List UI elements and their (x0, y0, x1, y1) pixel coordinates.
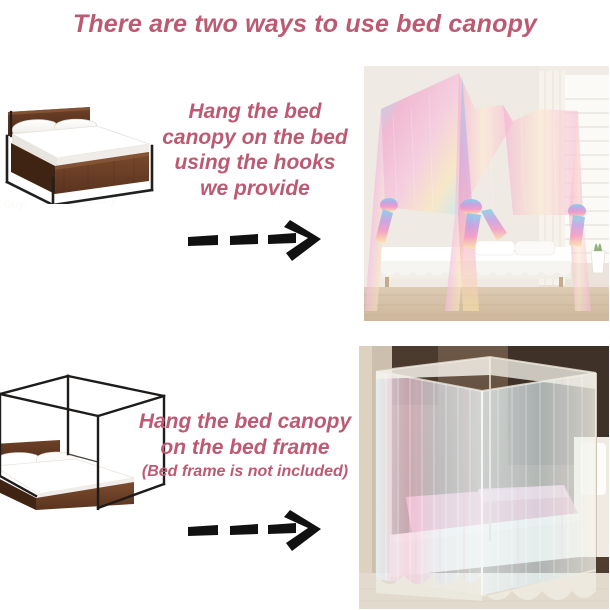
instruction-line: using the hooks (155, 150, 355, 176)
instruction-text-way-1: Hang the bed canopy on the bed using the… (155, 99, 355, 201)
dashed-right-arrow-icon (186, 507, 326, 553)
instruction-line: canopy on the bed (155, 125, 355, 151)
photo-canopy-on-bed-frame (358, 345, 610, 610)
instruction-text-way-2: Hang the bed canopy on the bed frame (Be… (128, 409, 362, 482)
instruction-line: Hang the bed (155, 99, 355, 125)
instruction-line: Hang the bed canopy (128, 409, 362, 435)
instruction-line: we provide (155, 176, 355, 202)
infographic-canvas: ouy uoy There are two ways to use bed ca… (0, 0, 610, 610)
instruction-note: (Bed frame is not included) (128, 462, 362, 482)
platform-bed-illustration (2, 86, 160, 204)
page-title: There are two ways to use bed canopy (0, 10, 610, 39)
photo-canopy-hung-from-hooks (363, 65, 610, 322)
instruction-line: on the bed frame (128, 435, 362, 461)
dashed-right-arrow-icon (186, 217, 326, 263)
